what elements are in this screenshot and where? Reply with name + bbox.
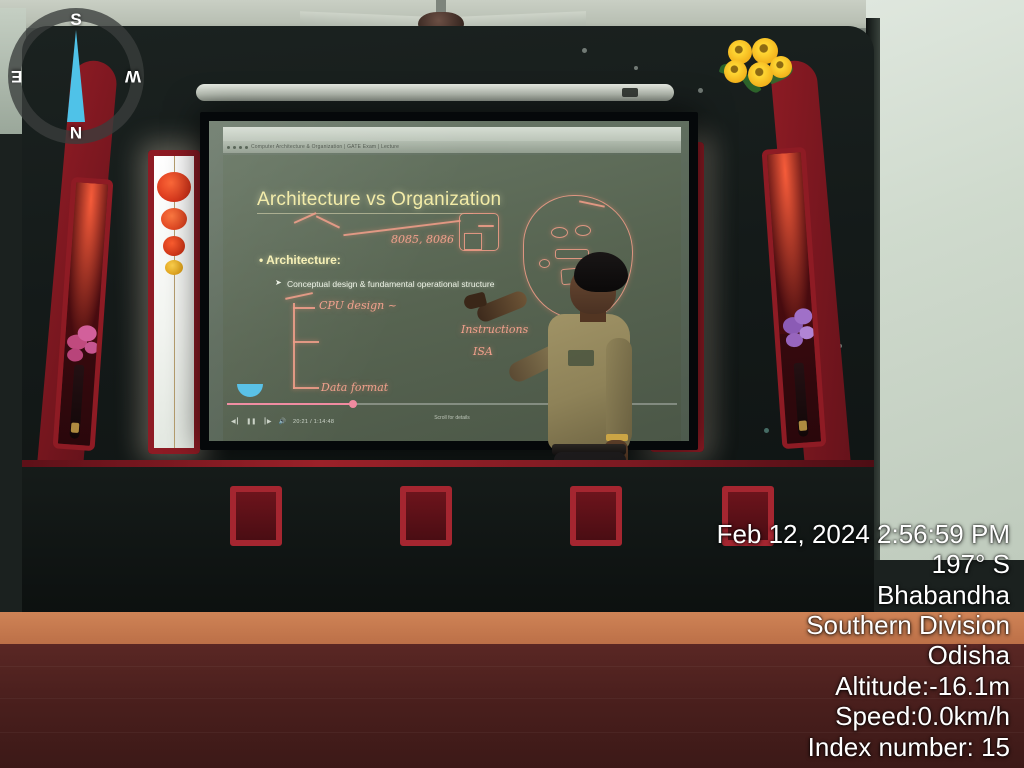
presenter-right-arm xyxy=(606,338,632,446)
ink-branch-arm xyxy=(293,307,315,309)
video-overlay-shape xyxy=(237,384,263,397)
video-progress-handle[interactable] xyxy=(349,400,357,408)
compass-widget: S N E W xyxy=(8,8,144,144)
compass-label-south: S xyxy=(70,10,81,30)
slide-bullet-architecture: • Architecture: xyxy=(259,253,341,267)
flower-bloom xyxy=(84,341,99,354)
sunflower xyxy=(724,60,747,83)
ink-annotation-instructions: Instructions xyxy=(461,323,528,336)
projector-screen-roller xyxy=(196,84,674,101)
ink-branch-arm xyxy=(293,341,319,343)
video-progress-fill xyxy=(227,403,353,405)
marigold-pom xyxy=(157,172,191,202)
slide-sub-bullet-marker: ➤ xyxy=(275,278,282,287)
ink-sketch-eye xyxy=(551,227,568,238)
gps-speed: Speed:0.0km/h xyxy=(717,701,1010,731)
slide-sub-bullet-text: Conceptual design & fundamental operatio… xyxy=(287,279,494,289)
gps-datetime: Feb 12, 2024 2:56:59 PM xyxy=(717,519,1010,549)
marigold-pom xyxy=(165,260,183,275)
photo-canvas: Computer Architecture & Organization | G… xyxy=(0,0,1024,768)
backdrop-speck xyxy=(582,48,587,53)
backdrop-speck xyxy=(698,88,703,93)
ink-branch-arm xyxy=(293,387,319,389)
gps-stamp-overlay: Feb 12, 2024 2:56:59 PM 197° S Bhabandha… xyxy=(717,519,1010,762)
pause-icon[interactable]: ❚❚ xyxy=(246,418,256,425)
flower-bloom xyxy=(67,348,84,362)
video-control-row[interactable]: ◀┃ ❚❚ ┃▶ 🔊 20:21 / 1:14:48 xyxy=(231,418,334,425)
marigold-pom xyxy=(163,236,185,256)
sunflower-cluster xyxy=(722,38,796,94)
slide-title: Architecture vs Organization xyxy=(257,189,501,211)
ink-sketch-mark xyxy=(478,225,494,227)
ink-annotation-chips: 8085, 8086 xyxy=(391,233,454,246)
flower-bloom xyxy=(799,326,815,340)
gps-place: Bhabandha xyxy=(717,580,1010,610)
presenter-shirt-pocket xyxy=(568,350,594,366)
ink-check-mark xyxy=(316,215,340,228)
tab-dot xyxy=(239,146,242,149)
stage-niche xyxy=(570,486,622,546)
browser-tab-bar[interactable]: Computer Architecture & Organization | G… xyxy=(223,141,681,153)
stage-niche xyxy=(400,486,452,546)
vase-right xyxy=(794,362,809,437)
browser-toolbar xyxy=(223,127,681,141)
ink-annotation-data-format: Data format xyxy=(321,381,388,394)
scroll-hint-text: Scroll for details xyxy=(434,415,470,421)
browser-tab-title: Computer Architecture & Organization | G… xyxy=(251,144,399,150)
next-track-icon[interactable]: ┃▶ xyxy=(263,418,271,425)
compass-label-north: N xyxy=(70,122,82,142)
tab-dot xyxy=(245,146,248,149)
gps-division: Southern Division xyxy=(717,610,1010,640)
slide-title-underline xyxy=(257,213,473,214)
ink-annotation-isa: ISA xyxy=(473,345,493,358)
ink-sketch-box-inner xyxy=(464,233,482,250)
sunflower xyxy=(770,56,792,78)
previous-track-icon[interactable]: ◀┃ xyxy=(231,418,239,425)
vase-left xyxy=(69,365,84,440)
tab-dot xyxy=(227,146,230,149)
marigold-pom xyxy=(161,208,187,230)
volume-icon[interactable]: 🔊 xyxy=(279,418,286,425)
stage-niche xyxy=(230,486,282,546)
gps-index: Index number: 15 xyxy=(717,732,1010,762)
backdrop-speck xyxy=(634,66,638,70)
ink-branch-trunk xyxy=(293,303,295,389)
tab-dot xyxy=(233,146,236,149)
video-timestamp: 20:21 / 1:14:48 xyxy=(293,419,334,425)
ink-sketch-eye xyxy=(575,225,591,236)
ink-annotation-cpu-design: CPU design ~ xyxy=(319,299,397,312)
ink-connector xyxy=(285,292,313,299)
gps-state: Odisha xyxy=(717,640,1010,670)
projector-screen-knob[interactable] xyxy=(622,88,638,97)
wall-right xyxy=(866,0,1024,560)
backdrop-speck xyxy=(764,428,769,433)
presenter-hair xyxy=(574,252,628,292)
compass-label-east: E xyxy=(11,66,22,86)
lightbox-panel-left xyxy=(148,150,200,454)
gps-altitude: Altitude:-16.1m xyxy=(717,671,1010,701)
stage-base-trim xyxy=(22,460,874,467)
compass-label-west: W xyxy=(125,66,141,86)
gps-heading: 197° S xyxy=(717,549,1010,579)
